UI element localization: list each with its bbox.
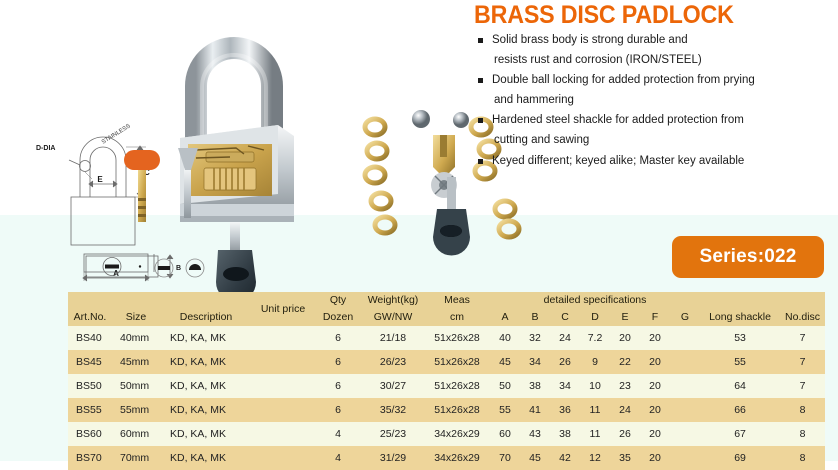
bullet-square-icon [478, 159, 483, 164]
cell-g [670, 350, 700, 374]
cell-weight: 26/23 [362, 350, 424, 374]
cell-b: 43 [520, 422, 550, 446]
cell-weight: 21/18 [362, 326, 424, 350]
cell-description: KD, KA, MK [160, 398, 252, 422]
cell-unit-price [252, 350, 314, 374]
col-meas-line2: cm [424, 307, 490, 326]
cell-g [670, 326, 700, 350]
cell-c: 24 [550, 326, 580, 350]
cell-f: 20 [640, 350, 670, 374]
col-e: E [610, 307, 640, 326]
drawing-label-e: E [97, 175, 103, 184]
cell-a: 40 [490, 326, 520, 350]
table-row: BS4040mmKD, KA, MK621/1851x26x284032247.… [68, 326, 825, 350]
cell-long-shackle: 55 [700, 350, 780, 374]
cell-e: 24 [610, 398, 640, 422]
cell-size: 60mm [112, 422, 160, 446]
col-art-no: Art.No. [68, 307, 112, 326]
cell-g [670, 422, 700, 446]
cell-g [670, 446, 700, 470]
col-meas-line1: Meas [424, 292, 490, 307]
cell-g [670, 374, 700, 398]
feature-line-1: Solid brass body is strong durable and [492, 34, 688, 46]
col-size: Size [112, 307, 160, 326]
cell-qty: 4 [314, 446, 362, 470]
feature-item: Hardened steel shackle for added protect… [478, 111, 830, 150]
cell-a: 60 [490, 422, 520, 446]
cell-qty: 6 [314, 350, 362, 374]
col-weight-line2: GW/NW [362, 307, 424, 326]
cell-weight: 25/23 [362, 422, 424, 446]
cell-art-no: BS45 [68, 350, 112, 374]
bullet-square-icon [478, 78, 483, 83]
cell-qty: 4 [314, 422, 362, 446]
cell-a: 70 [490, 446, 520, 470]
cell-no-disc: 7 [780, 374, 825, 398]
cell-e: 35 [610, 446, 640, 470]
cell-size: 55mm [112, 398, 160, 422]
table-header-row: Art.No. Size Description Dozen GW/NW cm … [68, 307, 825, 326]
cell-c: 26 [550, 350, 580, 374]
cell-no-disc: 7 [780, 350, 825, 374]
drawing-label-d-dia: D-DIA [36, 145, 55, 152]
cell-size: 40mm [112, 326, 160, 350]
cell-unit-price [252, 422, 314, 446]
cell-g [670, 398, 700, 422]
cell-long-shackle: 53 [700, 326, 780, 350]
cell-unit-price [252, 374, 314, 398]
feature-item: Solid brass body is strong durable and r… [478, 31, 830, 70]
col-detailed-specifications: detailed specifications [490, 292, 700, 307]
cell-size: 45mm [112, 350, 160, 374]
cell-e: 23 [610, 374, 640, 398]
cell-unit-price [252, 326, 314, 350]
bullet-square-icon [478, 38, 483, 43]
cell-a: 50 [490, 374, 520, 398]
col-g: G [670, 307, 700, 326]
cell-d: 9 [580, 350, 610, 374]
col-description: Description [160, 307, 252, 326]
cell-f: 20 [640, 446, 670, 470]
cell-description: KD, KA, MK [160, 446, 252, 470]
cell-a: 55 [490, 398, 520, 422]
cell-no-disc: 7 [780, 326, 825, 350]
col-a: A [490, 307, 520, 326]
cell-size: 70mm [112, 446, 160, 470]
table-row: BS6060mmKD, KA, MK425/2334x26x2960433811… [68, 422, 825, 446]
cell-unit-price [252, 398, 314, 422]
cell-unit-price [252, 446, 314, 470]
cell-c: 38 [550, 422, 580, 446]
cell-long-shackle: 67 [700, 422, 780, 446]
col-no-disc: No.disc [780, 307, 825, 326]
feature-line-1: Hardened steel shackle for added protect… [492, 114, 744, 126]
cell-art-no: BS40 [68, 326, 112, 350]
cell-meas: 34x26x29 [424, 446, 490, 470]
cell-meas: 51x26x28 [424, 398, 490, 422]
col-qty-line1: Qty [314, 292, 362, 307]
cell-c: 34 [550, 374, 580, 398]
cell-qty: 6 [314, 326, 362, 350]
feature-line-2: resists rust and corrosion (IRON/STEEL) [492, 51, 830, 71]
cell-meas: 34x26x29 [424, 422, 490, 446]
table-row: BS5555mmKD, KA, MK635/3251x26x2855413611… [68, 398, 825, 422]
cell-description: KD, KA, MK [160, 374, 252, 398]
col-unit-price: Unit price [252, 292, 314, 326]
cell-a: 45 [490, 350, 520, 374]
cell-f: 20 [640, 374, 670, 398]
feature-line-2: and hammering [492, 91, 830, 111]
cell-d: 11 [580, 398, 610, 422]
col-c: C [550, 307, 580, 326]
cell-f: 20 [640, 398, 670, 422]
cell-meas: 51x26x28 [424, 326, 490, 350]
cell-b: 38 [520, 374, 550, 398]
table-group-header-row: Unit price Qty Weight(kg) Meas detailed … [68, 292, 825, 307]
specification-table: Unit price Qty Weight(kg) Meas detailed … [68, 292, 825, 470]
cell-art-no: BS50 [68, 374, 112, 398]
col-weight-line1: Weight(kg) [362, 292, 424, 307]
series-badge: Series:022 [672, 236, 824, 278]
cell-description: KD, KA, MK [160, 326, 252, 350]
cell-weight: 31/29 [362, 446, 424, 470]
table-row: BS5050mmKD, KA, MK630/2751x26x2850383410… [68, 374, 825, 398]
col-b: B [520, 307, 550, 326]
cell-b: 45 [520, 446, 550, 470]
table-row: BS7070mmKD, KA, MK431/2934x26x2970454212… [68, 446, 825, 470]
feature-item: Double ball locking for added protection… [478, 71, 830, 110]
cell-d: 12 [580, 446, 610, 470]
cell-d: 10 [580, 374, 610, 398]
feature-line-1: Keyed different; keyed alike; Master key… [492, 155, 744, 167]
cell-meas: 51x26x28 [424, 374, 490, 398]
feature-list: Solid brass body is strong durable and r… [478, 31, 830, 172]
feature-line-2: cutting and sawing [492, 131, 830, 151]
feature-item: Keyed different; keyed alike; Master key… [478, 152, 830, 172]
cell-f: 20 [640, 326, 670, 350]
cell-qty: 6 [314, 398, 362, 422]
cell-b: 41 [520, 398, 550, 422]
col-f: F [640, 307, 670, 326]
cell-size: 50mm [112, 374, 160, 398]
cell-art-no: BS60 [68, 422, 112, 446]
cell-no-disc: 8 [780, 446, 825, 470]
cell-long-shackle: 64 [700, 374, 780, 398]
cell-long-shackle: 69 [700, 446, 780, 470]
cell-weight: 35/32 [362, 398, 424, 422]
cell-no-disc: 8 [780, 422, 825, 446]
cell-d: 11 [580, 422, 610, 446]
cell-c: 42 [550, 446, 580, 470]
cell-b: 32 [520, 326, 550, 350]
cell-no-disc: 8 [780, 398, 825, 422]
page-title: BRASS DISC PADLOCK [474, 1, 734, 30]
cell-b: 34 [520, 350, 550, 374]
feature-line-1: Double ball locking for added protection… [492, 74, 755, 86]
cell-description: KD, KA, MK [160, 350, 252, 374]
cell-qty: 6 [314, 374, 362, 398]
cell-art-no: BS55 [68, 398, 112, 422]
col-d: D [580, 307, 610, 326]
cell-weight: 30/27 [362, 374, 424, 398]
cell-e: 26 [610, 422, 640, 446]
cell-description: KD, KA, MK [160, 422, 252, 446]
bullet-square-icon [478, 118, 483, 123]
cell-d: 7.2 [580, 326, 610, 350]
cell-e: 20 [610, 326, 640, 350]
cell-meas: 51x26x28 [424, 350, 490, 374]
cell-c: 36 [550, 398, 580, 422]
cell-art-no: BS70 [68, 446, 112, 470]
cell-e: 22 [610, 350, 640, 374]
col-long-shackle: Long shackle [700, 307, 780, 326]
table-row: BS4545mmKD, KA, MK626/2351x26x2845342692… [68, 350, 825, 374]
col-qty-line2: Dozen [314, 307, 362, 326]
cell-f: 20 [640, 422, 670, 446]
cell-long-shackle: 66 [700, 398, 780, 422]
